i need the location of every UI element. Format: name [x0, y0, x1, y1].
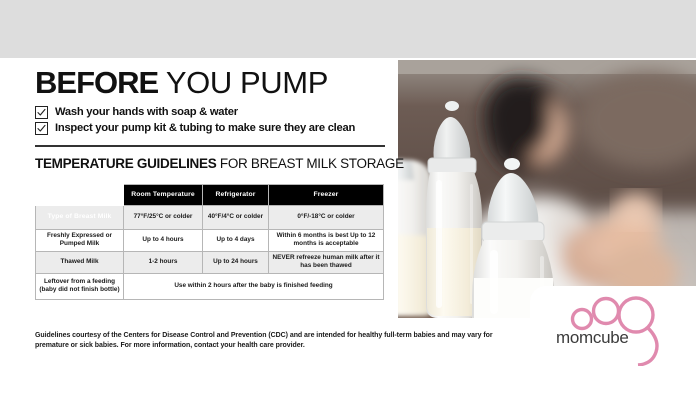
section-title-bold: TEMPERATURE GUIDELINES: [35, 156, 216, 171]
row-label-leftover-feeding: Leftover from a feeding (baby did not fi…: [36, 273, 124, 299]
cell-temp-freezer: 0°F/-18°C or colder: [269, 205, 384, 229]
checklist-label: Wash your hands with soap & water: [55, 106, 238, 119]
content-column: BEFORE YOU PUMP Wash your hands with soa…: [35, 66, 385, 300]
section-title-light: FOR BREAST MILK STORAGE: [220, 156, 404, 171]
list-item: Inspect your pump kit & tubing to make s…: [35, 122, 385, 135]
cell-temp-room: 77°F/25°C or colder: [124, 205, 203, 229]
cell-thawed-room: 1-2 hours: [124, 251, 203, 273]
headline-bold: BEFORE: [35, 65, 158, 100]
cell-freshly-expressed-freezer: Within 6 months is best Up to 12 months …: [269, 229, 384, 251]
top-gray-band: [0, 0, 696, 58]
cell-thawed-freezer: NEVER refreeze human milk after it has b…: [269, 251, 384, 273]
table-header-row: Room Temperature Refrigerator Freezer: [36, 184, 384, 205]
checkbox-checked-icon: [35, 122, 48, 135]
infographic-root: BEFORE YOU PUMP Wash your hands with soa…: [0, 0, 696, 403]
column-header-refrigerator: Refrigerator: [203, 184, 269, 205]
column-header-freezer: Freezer: [269, 184, 384, 205]
cell-temp-refrigerator: 40°F/4°C or colder: [203, 205, 269, 229]
table-row: Freshly Expressed or Pumped Milk Up to 4…: [36, 229, 384, 251]
mother-and-baby-photo: [398, 60, 696, 318]
page-title: BEFORE YOU PUMP: [35, 66, 385, 100]
pre-pump-checklist: Wash your hands with soap & water Inspec…: [35, 106, 385, 135]
checkbox-checked-icon: [35, 106, 48, 119]
table-row: Leftover from a feeding (baby did not fi…: [36, 273, 384, 299]
cell-thawed-refrigerator: Up to 24 hours: [203, 251, 269, 273]
table-corner-cell: [36, 184, 124, 205]
section-title: TEMPERATURE GUIDELINES FOR BREAST MILK S…: [35, 156, 385, 171]
cell-freshly-expressed-room: Up to 4 hours: [124, 229, 203, 251]
momcube-wordmark: momcube: [556, 328, 629, 348]
table-row: Thawed Milk 1-2 hours Up to 24 hours NEV…: [36, 251, 384, 273]
section-divider: [35, 145, 385, 147]
cell-leftover-all-columns: Use within 2 hours after the baby is fin…: [124, 273, 384, 299]
cdc-disclaimer: Guidelines courtesy of the Centers for D…: [35, 331, 505, 350]
table-body: Type of Breast Milk 77°F/25°C or colder …: [36, 205, 384, 299]
cell-freshly-expressed-refrigerator: Up to 4 days: [203, 229, 269, 251]
checklist-label: Inspect your pump kit & tubing to make s…: [55, 122, 355, 135]
row-label-thawed-milk: Thawed Milk: [36, 251, 124, 273]
table-row: Type of Breast Milk 77°F/25°C or colder …: [36, 205, 384, 229]
breast-milk-storage-table: Room Temperature Refrigerator Freezer Ty…: [35, 184, 384, 300]
headline-light: YOU PUMP: [166, 65, 328, 100]
momcube-logo[interactable]: momcube: [556, 296, 686, 366]
row-header-type-of-breast-milk: Type of Breast Milk: [36, 205, 124, 229]
list-item: Wash your hands with soap & water: [35, 106, 385, 119]
table-header: Room Temperature Refrigerator Freezer: [36, 184, 384, 205]
column-header-room-temperature: Room Temperature: [124, 184, 203, 205]
row-label-freshly-expressed: Freshly Expressed or Pumped Milk: [36, 229, 124, 251]
